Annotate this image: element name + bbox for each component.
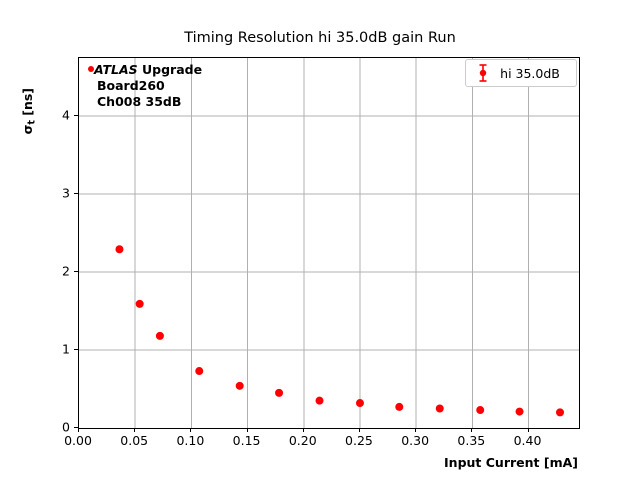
data-point	[275, 389, 283, 397]
legend-label-hi-35db: hi 35.0dB	[494, 66, 570, 81]
matplotlib-figure: Timing Resolution hi 35.0dB gain Run 0.0…	[0, 0, 640, 480]
x-tick-label: 0.05	[120, 433, 148, 448]
data-point	[236, 382, 244, 390]
y-tick-label: 1	[54, 341, 70, 356]
atlas-annotation: ATLAS Upgrade Board260 Ch008 35dB	[88, 62, 202, 110]
upgrade-text: Upgrade	[138, 62, 202, 77]
x-tick-label: 0.25	[345, 433, 373, 448]
y-tick-label: 0	[54, 420, 70, 435]
x-tick-label: 0.30	[401, 433, 429, 448]
y-tick-mark	[74, 115, 78, 116]
x-tick-mark	[303, 428, 304, 432]
legend-box[interactable]: hi 35.0dB	[465, 59, 577, 87]
data-point	[115, 245, 123, 253]
x-tick-label: 0.35	[457, 433, 485, 448]
channel-text: Ch008 35dB	[97, 94, 202, 110]
y-axis-label-subscript: t	[26, 120, 37, 125]
data-point	[516, 408, 524, 416]
y-tick-label: 2	[54, 263, 70, 278]
data-point	[436, 404, 444, 412]
x-tick-label: 0.10	[176, 433, 204, 448]
data-point	[356, 399, 364, 407]
y-tick-mark	[74, 271, 78, 272]
x-tick-mark	[359, 428, 360, 432]
x-tick-mark	[247, 428, 248, 432]
scatter-series-hi-35db	[79, 58, 579, 428]
board-text: Board260	[97, 78, 202, 94]
x-tick-mark	[190, 428, 191, 432]
legend-marker-icon	[472, 63, 494, 83]
data-point	[136, 300, 144, 308]
y-axis-label-sigma: σ	[20, 125, 35, 135]
data-point	[395, 403, 403, 411]
data-point	[195, 367, 203, 375]
x-axis-label: Input Current [mA]	[444, 455, 578, 470]
y-tick-mark	[74, 349, 78, 350]
y-tick-mark	[74, 193, 78, 194]
x-tick-label: 0.40	[514, 433, 542, 448]
data-point	[556, 408, 564, 416]
data-point	[476, 406, 484, 414]
chart-title: Timing Resolution hi 35.0dB gain Run	[0, 30, 640, 46]
atlas-text: ATLAS	[94, 62, 138, 77]
y-axis-label: σt [ns]	[20, 88, 37, 134]
plot-area	[78, 57, 580, 429]
x-tick-mark	[415, 428, 416, 432]
x-tick-label: 0.00	[64, 433, 92, 448]
y-tick-label: 3	[54, 185, 70, 200]
x-tick-mark	[78, 428, 79, 432]
x-tick-label: 0.15	[233, 433, 261, 448]
y-axis-label-unit: [ns]	[20, 88, 35, 120]
x-tick-mark	[134, 428, 135, 432]
data-point	[316, 397, 324, 405]
x-tick-mark	[471, 428, 472, 432]
x-tick-mark	[528, 428, 529, 432]
data-point	[156, 332, 164, 340]
x-tick-label: 0.20	[289, 433, 317, 448]
y-tick-label: 4	[54, 107, 70, 122]
y-tick-mark	[74, 427, 78, 428]
